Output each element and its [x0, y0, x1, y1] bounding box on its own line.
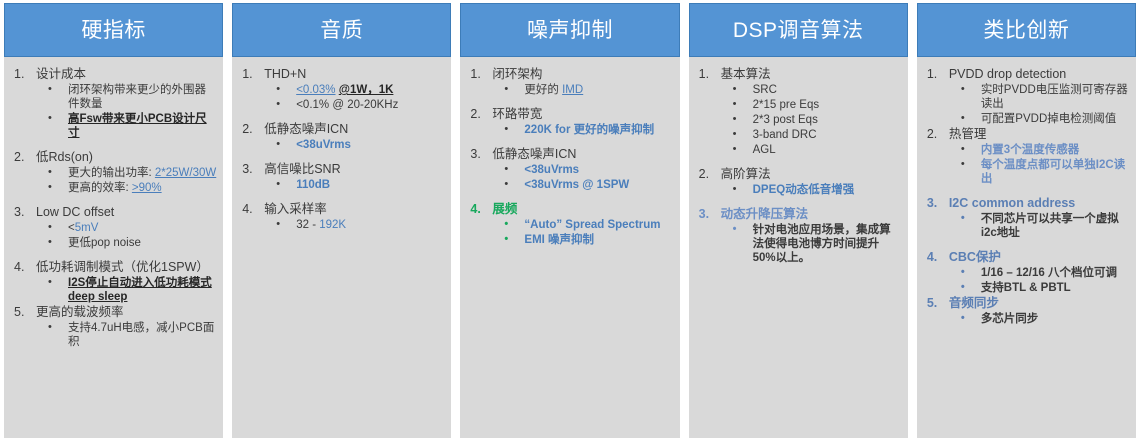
- sub-list-item: •更好的 IMD: [492, 83, 673, 97]
- sub-list-item-text: 不同芯片可以共享一个虚拟i2c地址: [981, 213, 1119, 239]
- list-item: THD+N•<0.03% @1W，1K•<0.1% @ 20-20KHz: [238, 67, 445, 112]
- list-item-number: [14, 205, 32, 220]
- sub-list: •针对电池应用场景，集成算法使得电池博方时间提升50%以上。: [721, 223, 902, 265]
- list-item-number: [242, 67, 260, 82]
- list-spacer: [238, 153, 445, 162]
- list-spacer: [695, 198, 902, 207]
- list-spacer: [238, 193, 445, 202]
- list-item-number: [14, 305, 32, 320]
- sub-list: •32 - 192K: [264, 218, 445, 232]
- sub-list: •支持4.7uH电感，减小PCB面积: [36, 321, 217, 349]
- sub-list-item-text[interactable]: 高Fsw带来更小PCB设计尺寸: [68, 113, 207, 139]
- sub-list-item-text[interactable]: <38uVrms: [524, 164, 579, 176]
- list-item-label: 环路带宽: [492, 107, 673, 122]
- list-item-label: 低静态噪声ICN: [264, 122, 445, 137]
- feature-list: 设计成本•闭环架构带来更少的外围器件数量•高Fsw带来更小PCB设计尺寸低Rds…: [10, 67, 217, 349]
- list-spacer: [466, 138, 673, 147]
- bullet-icon: •: [276, 97, 280, 111]
- sub-list: •更好的 IMD: [492, 83, 673, 97]
- sub-list-item: •<0.1% @ 20-20KHz: [264, 98, 445, 112]
- sub-list: •<38uVrms•<38uVrms @ 1SPW: [492, 163, 673, 192]
- list-item-label: 动态升降压算法: [721, 207, 902, 222]
- feature-column-analog-innovation: 类比创新PVDD drop detection•实时PVDD电压监测可寄存器读出…: [917, 3, 1136, 438]
- sub-list-item: •<0.03% @1W，1K: [264, 83, 445, 97]
- sub-list-item-text[interactable]: <38uVrms @ 1SPW: [524, 179, 629, 191]
- list-item: 动态升降压算法•针对电池应用场景，集成算法使得电池博方时间提升50%以上。: [695, 207, 902, 265]
- column-header-noise-suppression: 噪声抑制: [460, 3, 679, 57]
- list-item-number: [470, 147, 488, 162]
- sub-list: •220K for 更好的噪声抑制: [492, 123, 673, 137]
- sub-list-item: •“Auto” Spread Spectrum: [492, 218, 673, 232]
- bullet-icon: •: [276, 82, 280, 96]
- bullet-icon: •: [504, 122, 508, 136]
- list-item: 设计成本•闭环架构带来更少的外围器件数量•高Fsw带来更小PCB设计尺寸: [10, 67, 217, 140]
- column-body-noise-suppression: 闭环架构•更好的 IMD环路带宽•220K for 更好的噪声抑制低静态噪声IC…: [460, 57, 679, 438]
- list-item-number: [699, 207, 717, 222]
- sub-list: •闭环架构带来更少的外围器件数量•高Fsw带来更小PCB设计尺寸: [36, 83, 217, 140]
- list-item: 低功耗调制模式（优化1SPW）•I2S停止自动进入低功耗模式 deep slee…: [10, 260, 217, 304]
- sub-list-item: •2*15 pre Eqs: [721, 98, 902, 112]
- list-item: Low DC offset•<5mV•更低pop noise: [10, 205, 217, 250]
- sub-list-item: •每个温度点都可以单独I2C读出: [949, 158, 1130, 186]
- list-item-number: [242, 202, 260, 217]
- list-item: 展频•“Auto” Spread Spectrum•EMI 噪声抑制: [466, 202, 673, 247]
- list-item-number: [927, 196, 945, 211]
- list-item-number: [699, 67, 717, 82]
- list-item-label: 输入采样率: [264, 202, 445, 217]
- sub-list-item: •支持BTL & PBTL: [949, 281, 1130, 295]
- list-item-label: 音频同步: [949, 296, 1130, 311]
- list-item-number: [927, 250, 945, 265]
- list-item: 低静态噪声ICN•<38uVrms: [238, 122, 445, 152]
- column-title: 噪声抑制: [527, 20, 613, 41]
- bullet-icon: •: [733, 82, 737, 96]
- column-header-sound-quality: 音质: [232, 3, 451, 57]
- sub-list: •DPEQ动态低音增强: [721, 183, 902, 197]
- feature-column-sound-quality: 音质THD+N•<0.03% @1W，1K•<0.1% @ 20-20KHz低静…: [232, 3, 451, 438]
- sub-list: •I2S停止自动进入低功耗模式 deep sleep: [36, 276, 217, 304]
- bullet-icon: •: [733, 142, 737, 156]
- list-item: 基本算法•SRC•2*15 pre Eqs•2*3 post Eqs•3-ban…: [695, 67, 902, 157]
- sub-list-item: •32 - 192K: [264, 218, 445, 232]
- bullet-icon: •: [48, 165, 52, 179]
- sub-list: •不同芯片可以共享一个虚拟i2c地址: [949, 212, 1130, 240]
- sub-list-item: •AGL: [721, 143, 902, 157]
- list-item-label: I2C common address: [949, 196, 1130, 211]
- sub-list-item-text[interactable]: DPEQ动态低音增强: [753, 184, 855, 196]
- sub-list-item: •SRC: [721, 83, 902, 97]
- bullet-icon: •: [733, 97, 737, 111]
- list-spacer: [923, 187, 1130, 196]
- list-spacer: [10, 196, 217, 205]
- feature-column-dsp-tuning: DSP调音算法基本算法•SRC•2*15 pre Eqs•2*3 post Eq…: [689, 3, 908, 438]
- list-item-number: [470, 202, 488, 217]
- list-item: 闭环架构•更好的 IMD: [466, 67, 673, 97]
- column-header-analog-innovation: 类比创新: [917, 3, 1136, 57]
- list-spacer: [466, 98, 673, 107]
- bullet-icon: •: [961, 280, 965, 294]
- sub-list-item: •2*3 post Eqs: [721, 113, 902, 127]
- sub-list-item-text: 更高的效率:: [68, 182, 132, 194]
- list-item-number: [242, 162, 260, 177]
- bullet-icon: •: [504, 162, 508, 176]
- bullet-icon: •: [961, 311, 965, 325]
- sub-list: •1/16 – 12/16 八个档位可调•支持BTL & PBTL: [949, 266, 1130, 295]
- list-item: 更高的载波频率•支持4.7uH电感，减小PCB面积: [10, 305, 217, 349]
- sub-list: •<38uVrms: [264, 138, 445, 152]
- feature-list: 闭环架构•更好的 IMD环路带宽•220K for 更好的噪声抑制低静态噪声IC…: [466, 67, 673, 247]
- sub-list-item: •更高的效率: >90%: [36, 181, 217, 195]
- sub-list-item-text: <0.1% @ 20-20KHz: [296, 99, 398, 111]
- column-title: 音质: [320, 20, 363, 41]
- sub-list-item-text[interactable]: @1W，1K: [339, 84, 394, 96]
- sub-list-item: •可配置PVDD掉电检测阈值: [949, 112, 1130, 126]
- list-item-label: 更高的载波频率: [36, 305, 217, 320]
- list-item-label: 闭环架构: [492, 67, 673, 82]
- list-item: 音频同步•多芯片同步: [923, 296, 1130, 326]
- list-item-label: THD+N: [264, 67, 445, 82]
- sub-list-item-text: 更好的: [524, 84, 562, 96]
- sub-list-item: •高Fsw带来更小PCB设计尺寸: [36, 112, 217, 140]
- list-spacer: [466, 193, 673, 202]
- list-item: 高阶算法•DPEQ动态低音增强: [695, 167, 902, 197]
- list-item-label: Low DC offset: [36, 205, 217, 220]
- sub-list-item: •内置3个温度传感器: [949, 143, 1130, 157]
- list-item-number: [470, 67, 488, 82]
- sub-list-item-text[interactable]: <38uVrms: [296, 139, 351, 151]
- sub-list-item: •<5mV: [36, 221, 217, 235]
- list-item-label: 基本算法: [721, 67, 902, 82]
- sub-list-item: •不同芯片可以共享一个虚拟i2c地址: [949, 212, 1130, 240]
- list-item-number: [927, 296, 945, 311]
- bullet-icon: •: [733, 112, 737, 126]
- list-item: 高信噪比SNR•110dB: [238, 162, 445, 192]
- sub-list-item-text[interactable]: I2S停止自动进入低功耗模式 deep sleep: [68, 277, 212, 303]
- column-body-hard-specs: 设计成本•闭环架构带来更少的外围器件数量•高Fsw带来更小PCB设计尺寸低Rds…: [4, 57, 223, 438]
- list-spacer: [923, 241, 1130, 250]
- bullet-icon: •: [504, 232, 508, 246]
- list-spacer: [10, 251, 217, 260]
- sub-list: •内置3个温度传感器•每个温度点都可以单独I2C读出: [949, 143, 1130, 186]
- sub-list-item-text: AGL: [753, 144, 776, 156]
- bullet-icon: •: [504, 82, 508, 96]
- list-item-number: [242, 122, 260, 137]
- sub-list-item-text[interactable]: 2*25W/30W: [155, 167, 216, 179]
- list-item: PVDD drop detection•实时PVDD电压监测可寄存器读出•可配置…: [923, 67, 1130, 126]
- bullet-icon: •: [276, 177, 280, 191]
- bullet-icon: •: [961, 111, 965, 125]
- list-item-number: [470, 107, 488, 122]
- sub-list-item-text: 3-band DRC: [753, 129, 817, 141]
- sub-list-item-text[interactable]: IMD: [562, 84, 583, 96]
- sub-list: •SRC•2*15 pre Eqs•2*3 post Eqs•3-band DR…: [721, 83, 902, 157]
- bullet-icon: •: [961, 142, 965, 156]
- column-header-dsp-tuning: DSP调音算法: [689, 3, 908, 57]
- list-item-label: 低静态噪声ICN: [492, 147, 673, 162]
- list-item-label: 热管理: [949, 127, 1130, 142]
- sub-list-item-text: 多芯片同步: [981, 313, 1039, 325]
- list-spacer: [695, 158, 902, 167]
- list-item: I2C common address•不同芯片可以共享一个虚拟i2c地址: [923, 196, 1130, 240]
- list-item-label: 设计成本: [36, 67, 217, 82]
- sub-list-item-text: 实时PVDD电压监测可寄存器读出: [981, 84, 1128, 110]
- sub-list-item-text: 可配置PVDD掉电检测阈值: [981, 113, 1116, 125]
- bullet-icon: •: [961, 82, 965, 96]
- sub-list-item: •220K for 更好的噪声抑制: [492, 123, 673, 137]
- feature-column-noise-suppression: 噪声抑制闭环架构•更好的 IMD环路带宽•220K for 更好的噪声抑制低静态…: [460, 3, 679, 438]
- list-item-label: CBC保护: [949, 250, 1130, 265]
- feature-column-hard-specs: 硬指标设计成本•闭环架构带来更少的外围器件数量•高Fsw带来更小PCB设计尺寸低…: [4, 3, 223, 438]
- bullet-icon: •: [961, 265, 965, 279]
- list-spacer: [238, 113, 445, 122]
- bullet-icon: •: [48, 275, 52, 289]
- sub-list: •实时PVDD电压监测可寄存器读出•可配置PVDD掉电检测阈值: [949, 83, 1130, 126]
- list-item: 输入采样率•32 - 192K: [238, 202, 445, 232]
- list-item-number: [14, 260, 32, 275]
- list-item-number: [699, 167, 717, 182]
- sub-list-item: •<38uVrms: [264, 138, 445, 152]
- list-spacer: [10, 141, 217, 150]
- sub-list-item-text: 支持BTL & PBTL: [981, 282, 1071, 294]
- bullet-icon: •: [48, 180, 52, 194]
- sub-list: •110dB: [264, 178, 445, 192]
- list-item: 热管理•内置3个温度传感器•每个温度点都可以单独I2C读出: [923, 127, 1130, 186]
- sub-list-item-text[interactable]: “Auto” Spread Spectrum: [524, 219, 660, 231]
- sub-list-item: •更低pop noise: [36, 236, 217, 250]
- column-header-hard-specs: 硬指标: [4, 3, 223, 57]
- list-item-number: [14, 67, 32, 82]
- feature-columns-board: 硬指标设计成本•闭环架构带来更少的外围器件数量•高Fsw带来更小PCB设计尺寸低…: [0, 0, 1140, 438]
- sub-list-item: •更大的输出功率: 2*25W/30W: [36, 166, 217, 180]
- feature-list: 基本算法•SRC•2*15 pre Eqs•2*3 post Eqs•3-ban…: [695, 67, 902, 265]
- sub-list-item: •110dB: [264, 178, 445, 192]
- sub-list: •<5mV•更低pop noise: [36, 221, 217, 250]
- list-item-label: 低Rds(on): [36, 150, 217, 165]
- feature-list: THD+N•<0.03% @1W，1K•<0.1% @ 20-20KHz低静态噪…: [238, 67, 445, 232]
- sub-list-item-text: 针对电池应用场景，集成算法使得电池博方时间提升50%以上。: [753, 224, 891, 264]
- bullet-icon: •: [504, 177, 508, 191]
- bullet-icon: •: [961, 157, 965, 171]
- sub-list-item-text: 更低pop noise: [68, 237, 141, 249]
- sub-list-item: •3-band DRC: [721, 128, 902, 142]
- bullet-icon: •: [733, 222, 737, 236]
- sub-list-item: •针对电池应用场景，集成算法使得电池博方时间提升50%以上。: [721, 223, 902, 265]
- sub-list-item: •支持4.7uH电感，减小PCB面积: [36, 321, 217, 349]
- sub-list-item: •DPEQ动态低音增强: [721, 183, 902, 197]
- sub-list-item-text[interactable]: 110dB: [296, 179, 330, 191]
- sub-list-item-text[interactable]: 内置3个温度传感器: [981, 144, 1079, 156]
- sub-list-item-text: 更大的输出功率:: [68, 167, 155, 179]
- sub-list: •<0.03% @1W，1K•<0.1% @ 20-20KHz: [264, 83, 445, 112]
- column-body-analog-innovation: PVDD drop detection•实时PVDD电压监测可寄存器读出•可配置…: [917, 57, 1136, 438]
- list-item-label: 高信噪比SNR: [264, 162, 445, 177]
- sub-list-item: •闭环架构带来更少的外围器件数量: [36, 83, 217, 111]
- bullet-icon: •: [733, 127, 737, 141]
- sub-list-item-text[interactable]: >90%: [132, 182, 162, 194]
- sub-list-item-text[interactable]: <0.03%: [296, 84, 335, 96]
- sub-list-item: •EMI 噪声抑制: [492, 233, 673, 247]
- list-item-label: 展频: [492, 202, 673, 217]
- sub-list-item: •<38uVrms @ 1SPW: [492, 178, 673, 192]
- bullet-icon: •: [48, 320, 52, 334]
- bullet-icon: •: [48, 220, 52, 234]
- bullet-icon: •: [961, 211, 965, 225]
- sub-list: •“Auto” Spread Spectrum•EMI 噪声抑制: [492, 218, 673, 247]
- sub-list-item: •1/16 – 12/16 八个档位可调: [949, 266, 1130, 280]
- column-title: 硬指标: [81, 20, 146, 41]
- list-item-label: 低功耗调制模式（优化1SPW）: [36, 260, 217, 275]
- sub-list: •多芯片同步: [949, 312, 1130, 326]
- sub-list-item: •多芯片同步: [949, 312, 1130, 326]
- sub-list-item-text[interactable]: 每个温度点都可以单独I2C读出: [981, 159, 1125, 185]
- list-item-number: [927, 67, 945, 82]
- list-item: 环路带宽•220K for 更好的噪声抑制: [466, 107, 673, 137]
- list-item: 低Rds(on)•更大的输出功率: 2*25W/30W•更高的效率: >90%: [10, 150, 217, 195]
- sub-list: •更大的输出功率: 2*25W/30W•更高的效率: >90%: [36, 166, 217, 195]
- list-item-number: [14, 150, 32, 165]
- list-item: CBC保护•1/16 – 12/16 八个档位可调•支持BTL & PBTL: [923, 250, 1130, 295]
- bullet-icon: •: [733, 182, 737, 196]
- bullet-icon: •: [276, 137, 280, 151]
- sub-list-item-text[interactable]: EMI 噪声抑制: [524, 234, 594, 246]
- column-title: DSP调音算法: [733, 20, 864, 41]
- sub-list-item-text[interactable]: 220K for 更好的噪声抑制: [524, 124, 654, 136]
- list-item-number: [927, 127, 945, 142]
- sub-list-item-text: 32 -: [296, 219, 319, 231]
- feature-list: PVDD drop detection•实时PVDD电压监测可寄存器读出•可配置…: [923, 67, 1130, 326]
- bullet-icon: •: [48, 111, 52, 125]
- sub-list-item-text: SRC: [753, 84, 777, 96]
- sub-list-item-text: 1/16 – 12/16 八个档位可调: [981, 267, 1117, 279]
- column-body-dsp-tuning: 基本算法•SRC•2*15 pre Eqs•2*3 post Eqs•3-ban…: [689, 57, 908, 438]
- sub-list-item: •<38uVrms: [492, 163, 673, 177]
- sub-list-item-text: 2*15 pre Eqs: [753, 99, 820, 111]
- sub-list-item-text: 支持4.7uH电感，减小PCB面积: [68, 322, 214, 348]
- bullet-icon: •: [276, 217, 280, 231]
- sub-list-item-text: 2*3 post Eqs: [753, 114, 818, 126]
- bullet-icon: •: [48, 82, 52, 96]
- list-item-label: PVDD drop detection: [949, 67, 1130, 82]
- sub-list-item-text[interactable]: 5mV: [75, 222, 99, 234]
- sub-list-item: •实时PVDD电压监测可寄存器读出: [949, 83, 1130, 111]
- list-item: 低静态噪声ICN•<38uVrms•<38uVrms @ 1SPW: [466, 147, 673, 192]
- column-body-sound-quality: THD+N•<0.03% @1W，1K•<0.1% @ 20-20KHz低静态噪…: [232, 57, 451, 438]
- sub-list-item: •I2S停止自动进入低功耗模式 deep sleep: [36, 276, 217, 304]
- column-title: 类比创新: [983, 20, 1069, 41]
- sub-list-item-text[interactable]: 192K: [319, 219, 346, 231]
- bullet-icon: •: [48, 235, 52, 249]
- sub-list-item-text: 闭环架构带来更少的外围器件数量: [68, 84, 206, 110]
- bullet-icon: •: [504, 217, 508, 231]
- sub-list-item-text: <: [68, 222, 75, 234]
- list-item-label: 高阶算法: [721, 167, 902, 182]
